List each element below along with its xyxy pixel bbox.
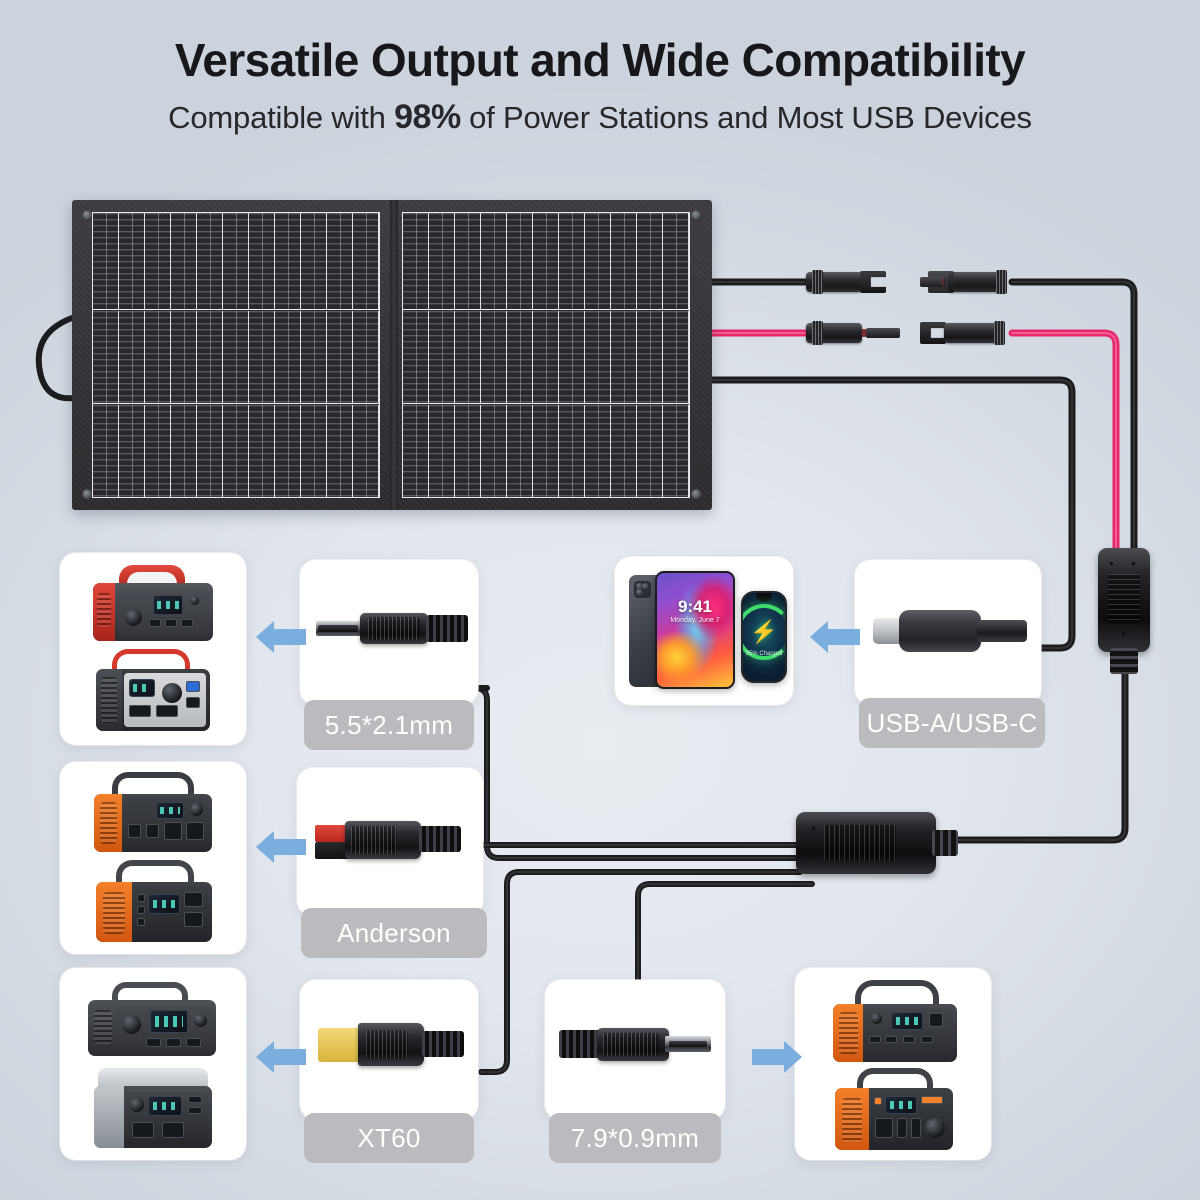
power-station-orange-bottom: [96, 860, 212, 944]
dc-barrel-plug-icon: [559, 1024, 711, 1066]
tablet-clock: 9:41: [657, 597, 733, 617]
usb-c-plug-icon: [873, 604, 1025, 656]
connector-card-usb[interactable]: [855, 560, 1041, 705]
arrow-to-power-station-orange2: [752, 1040, 804, 1074]
connector-label-usb: USB-A/USB-C: [859, 698, 1045, 748]
device-card-power-station-orange[interactable]: [60, 762, 246, 954]
tablet-wallpaper: [657, 573, 733, 687]
power-station-orange2-bottom: [835, 1068, 953, 1152]
dc-barrel-plug-icon: [316, 608, 468, 650]
tablet-front: 9:41 Monday, June 7: [655, 571, 735, 689]
connector-label-xt60: XT60: [304, 1113, 474, 1163]
mc4-connector-male-positive: [806, 320, 902, 346]
power-station-gray-top: [88, 982, 216, 1060]
connector-label-anderson: Anderson: [301, 908, 487, 958]
cable-splitter-hub-horizontal: [796, 812, 956, 874]
connector-label-dc5521: 5.5*2.1mm: [304, 700, 474, 750]
charging-bolt-icon: ⚡: [750, 621, 777, 643]
arrow-to-power-station-gray: [254, 1040, 306, 1074]
mc4-connector-male-negative: [806, 269, 902, 295]
tablet-camera-icon: [634, 581, 651, 598]
power-station-red-bottom: [96, 649, 210, 733]
tablet-date: Monday, June 7: [657, 617, 733, 624]
power-station-gray-bottom: [94, 1068, 212, 1150]
anderson-powerpole-icon: [315, 818, 473, 864]
connector-label-dc7909: 7.9*0.9mm: [549, 1113, 721, 1163]
connector-card-dc5521[interactable]: [300, 560, 478, 705]
connector-card-xt60[interactable]: [300, 980, 478, 1120]
power-station-orange-top: [94, 772, 212, 854]
power-station-red-top: [93, 565, 213, 643]
arrow-to-mobile-devices: [808, 620, 860, 654]
connector-card-anderson[interactable]: [297, 768, 483, 916]
power-station-orange2-top: [833, 980, 957, 1064]
mc4-connector-female-negative: [920, 269, 1014, 295]
arrow-to-power-station-red: [254, 620, 306, 654]
phone-charge-status: 95% Charged: [743, 651, 785, 657]
infographic-stage: Versatile Output and Wide Compatibility …: [0, 0, 1200, 1200]
device-card-power-station-red[interactable]: [60, 553, 246, 745]
arrow-to-power-station-orange: [254, 830, 306, 864]
phone-front: ⚡ 95% Charged: [741, 591, 787, 683]
mc4-connector-female-positive: [920, 320, 1014, 346]
device-card-power-station-gray[interactable]: [60, 968, 246, 1160]
connector-card-dc7909[interactable]: [545, 980, 725, 1120]
device-card-power-station-orange2[interactable]: [795, 968, 991, 1160]
xt60-plug-icon: [318, 1020, 468, 1070]
cable-junction-hub-vertical: [1098, 548, 1156, 676]
device-card-mobile[interactable]: 9:41 Monday, June 7 ⚡ 95% Charged: [615, 557, 793, 705]
